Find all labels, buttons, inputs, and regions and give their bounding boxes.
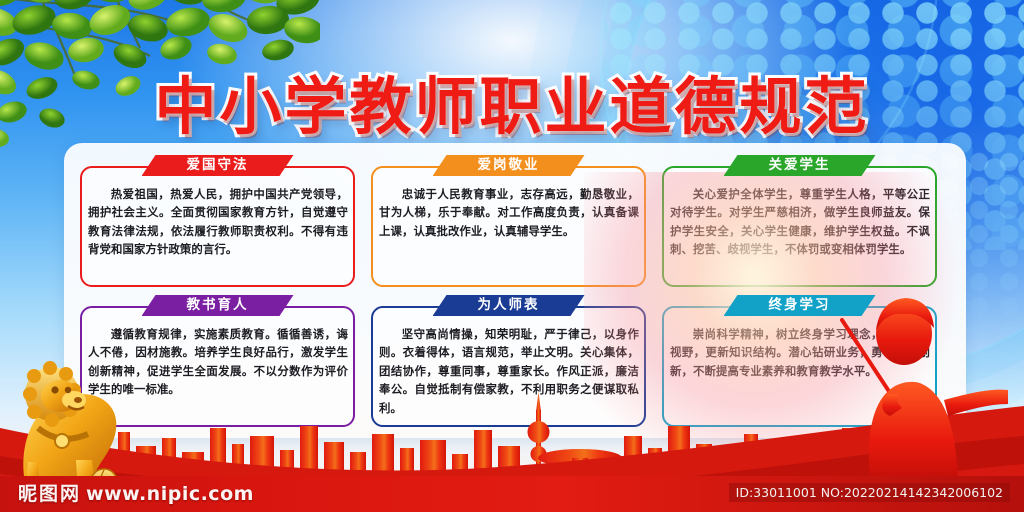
rule-card-4-heading: 教书育人 [187,299,249,313]
rule-card-6-heading: 终身学习 [769,299,831,313]
rule-card-2-ribbon: 爱岗敬业 [433,155,585,176]
rule-card-1[interactable]: 爱国守法 热爱祖国，热爱人民，拥护中国共产党领导，拥护社会主义。全面贯彻国家教育… [76,155,359,291]
rule-card-4-ribbon: 教书育人 [142,295,294,316]
rule-card-5-ribbon: 为人师表 [433,295,585,316]
lion-icon [4,342,132,494]
rule-card-5-heading: 为人师表 [478,299,540,313]
watermark-cn-label: 昵图网 [18,483,81,505]
site-watermark: 昵图网www.nipic.com [18,479,254,506]
rule-card-1-body: 热爱祖国，热爱人民，拥护中国共产党领导，拥护社会主义。全面贯彻国家教育方针，自觉… [88,185,348,283]
rule-card-1-heading: 爱国守法 [187,159,249,173]
rule-card-3-ribbon: 关爱学生 [724,155,876,176]
poster-title: 中小学教师职业道德规范 [0,56,1024,146]
rule-card-3-heading: 关爱学生 [769,159,831,173]
image-id-code: ID:33011001 NO:20220214142342006102 [729,483,1010,502]
rule-card-1-ribbon: 爱国守法 [142,155,294,176]
poster-canvas: 中小学教师职业道德规范 爱国守法 热爱祖国，热爱人民，拥护中国共产党领导，拥护社… [0,0,1024,512]
teacher-silhouette [818,290,1008,480]
rule-card-6-ribbon: 终身学习 [724,295,876,316]
watermark-url: www.nipic.com [86,483,254,505]
teacher-silhouette-icon [818,290,1008,480]
rule-card-2-heading: 爱岗敬业 [478,159,540,173]
guardian-lion-statue [4,342,132,494]
